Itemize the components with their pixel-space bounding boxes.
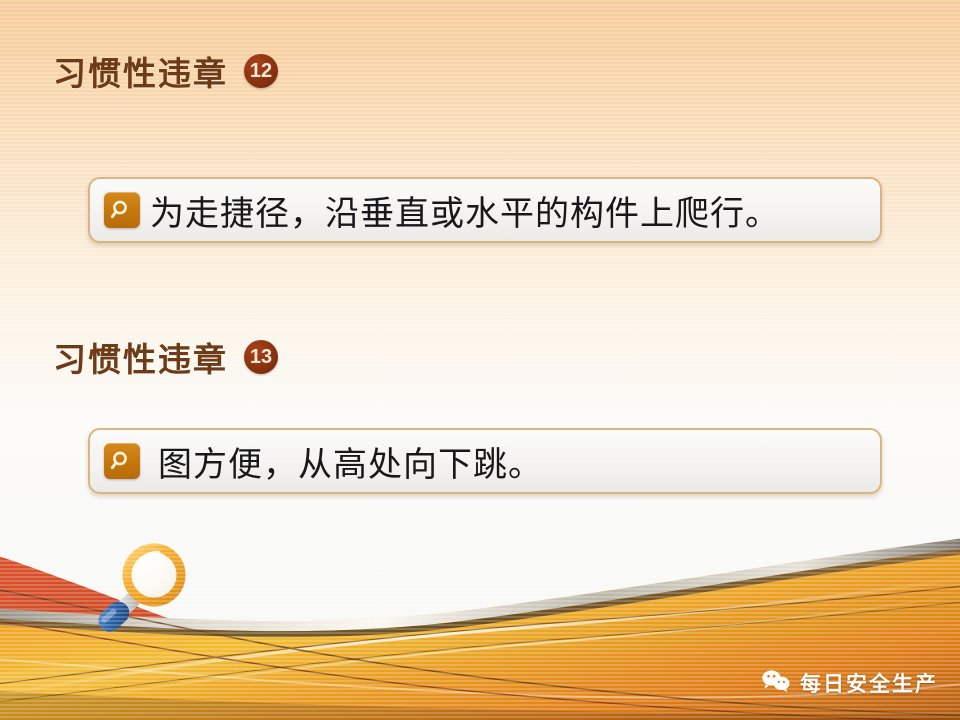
heading-label: 习惯性违章 xyxy=(53,47,228,95)
watermark-text: 每日安全生产 xyxy=(800,668,938,698)
statement-text: 图方便，从高处向下跳。 xyxy=(158,437,543,486)
section-heading-13: 习惯性违章 13 xyxy=(53,333,278,381)
slide-canvas: 习惯性违章 12 为走捷径，沿垂直或水平的构件上爬行。 习惯性违章 13 图方便… xyxy=(0,0,960,720)
magnifying-glass-decoration xyxy=(86,538,196,638)
heading-number-badge: 13 xyxy=(244,340,278,374)
statement-box-13: 图方便，从高处向下跳。 xyxy=(88,428,882,494)
magnifier-icon xyxy=(104,443,140,479)
magnifier-icon xyxy=(104,192,140,228)
section-heading-12: 习惯性违章 12 xyxy=(53,47,278,95)
heading-label: 习惯性违章 xyxy=(53,333,228,381)
watermark: 每日安全生产 xyxy=(761,668,938,698)
statement-box-12: 为走捷径，沿垂直或水平的构件上爬行。 xyxy=(88,177,882,243)
heading-number-badge: 12 xyxy=(244,54,278,88)
wechat-icon xyxy=(761,669,791,698)
statement-text: 为走捷径，沿垂直或水平的构件上爬行。 xyxy=(150,186,780,235)
